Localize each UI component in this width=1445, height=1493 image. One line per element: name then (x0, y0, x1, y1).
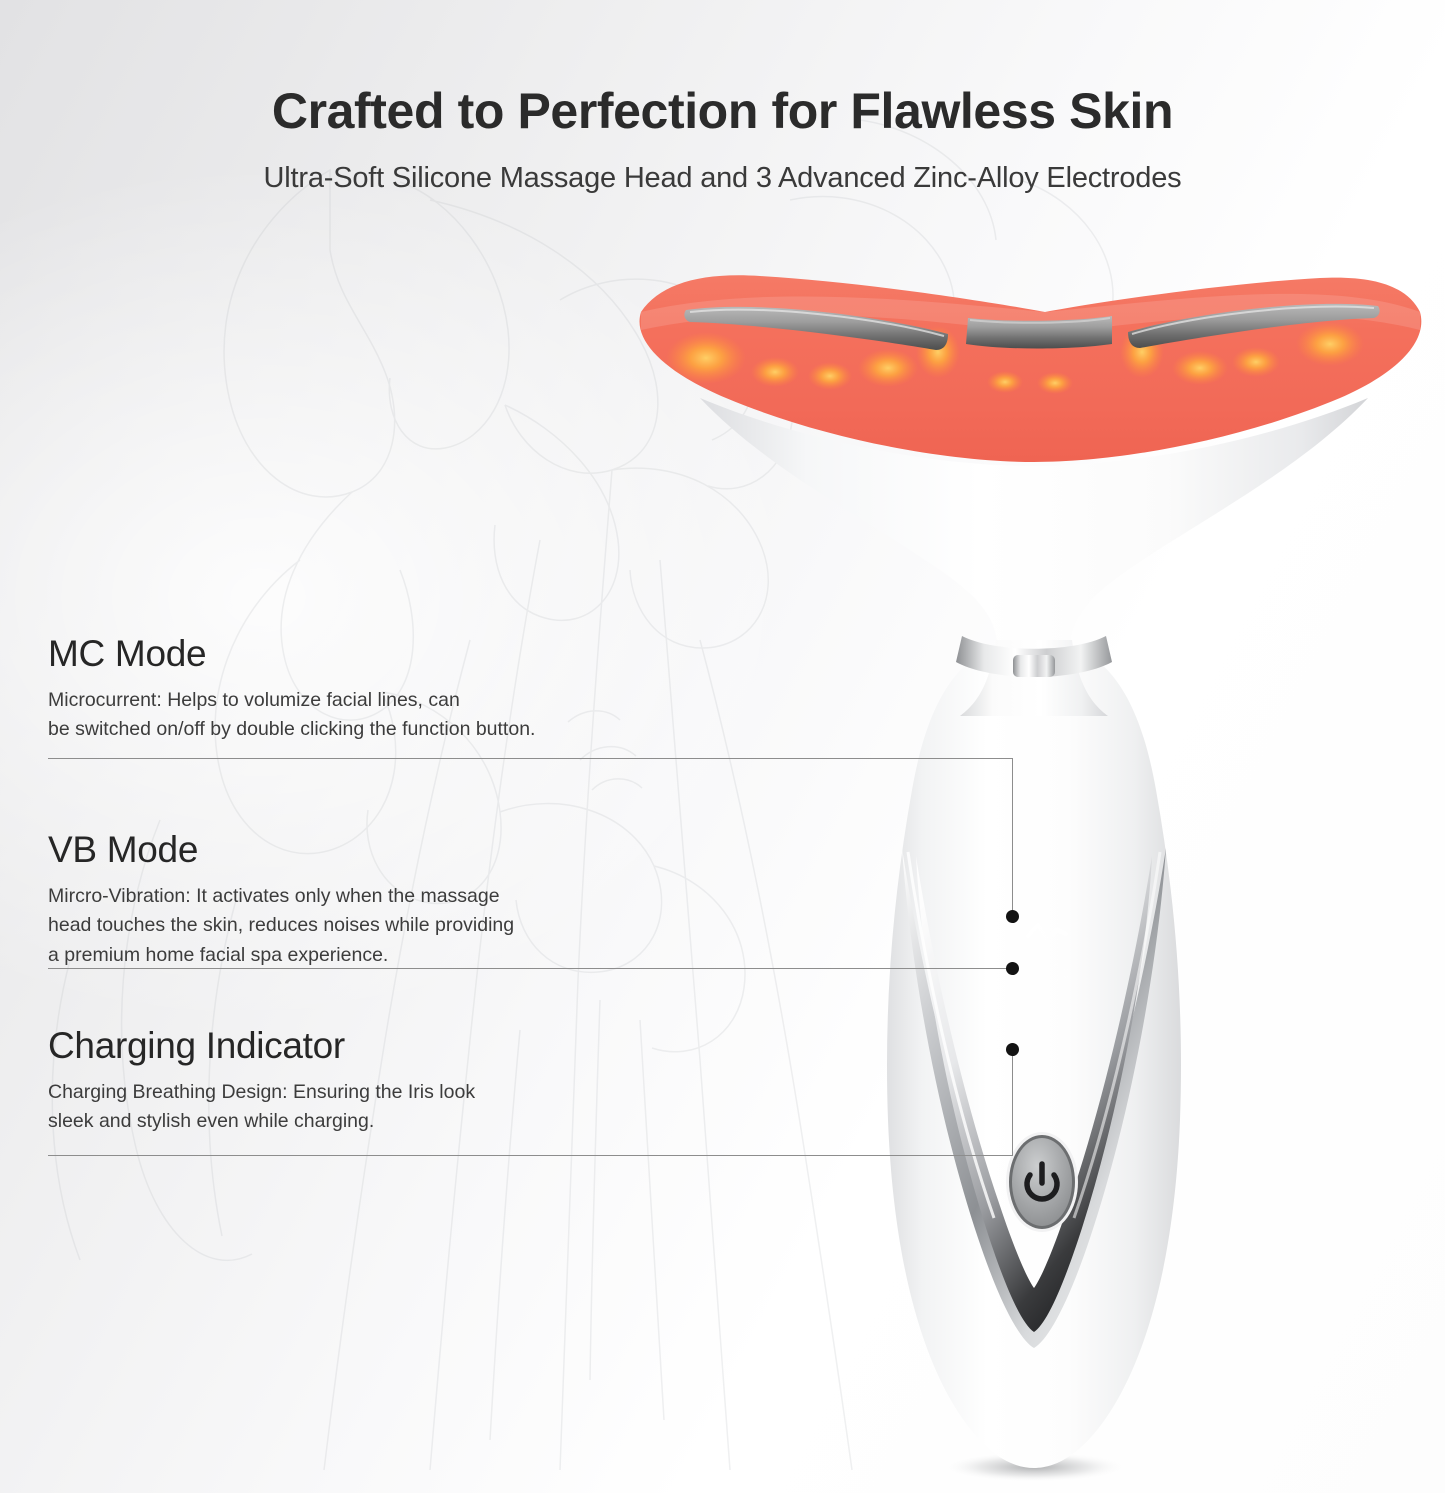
device-body (887, 640, 1181, 1468)
chrome-ring-tab (1013, 655, 1055, 677)
device-illustration (0, 0, 1445, 1493)
leader-line-mc-vertical (1012, 758, 1013, 916)
led-dot (1172, 351, 1228, 385)
electrode-strip-right (1128, 304, 1380, 348)
led-massage-head (640, 275, 1422, 462)
silicone-head (640, 275, 1422, 462)
leader-line-charging-horizontal (48, 1155, 1013, 1156)
led-dot (1037, 372, 1073, 394)
mc-indicator-icon (1028, 925, 1066, 939)
power-icon (1027, 1164, 1057, 1199)
page-title: Crafted to Perfection for Flawless Skin (0, 85, 1445, 138)
feature-title-mc-mode: MC Mode (48, 634, 535, 675)
led-dot (1120, 326, 1164, 378)
charging-indicator-icon (1028, 1003, 1050, 1038)
feature-description-charging-indicator: Charging Breathing Design: Ensuring the … (48, 1078, 475, 1137)
v-trim-inner (916, 856, 1152, 1332)
led-dot (916, 326, 960, 378)
led-dot (666, 332, 746, 384)
header: Crafted to Perfection for Flawless Skin … (0, 0, 1445, 195)
power-button-bezel (1006, 1132, 1078, 1232)
electrode-strip-center (966, 316, 1112, 349)
device-shadow (942, 1452, 1126, 1482)
led-dot (808, 362, 852, 390)
leader-dot-mc (1006, 910, 1019, 923)
iris-flower-watermark (0, 0, 1445, 1493)
electrode-strip-left (684, 307, 948, 350)
leader-dot-charging (1006, 1043, 1019, 1056)
device-neck-funnel (700, 398, 1368, 648)
page-subtitle: Ultra-Soft Silicone Massage Head and 3 A… (0, 162, 1445, 195)
feature-block-mc-mode: MC Mode Microcurrent: Helps to volumize … (48, 634, 535, 745)
feature-title-charging-indicator: Charging Indicator (48, 1026, 475, 1067)
chrome-ring (956, 636, 1112, 677)
led-dot (1232, 347, 1280, 377)
led-dot (987, 371, 1023, 393)
feature-description-mc-mode: Microcurrent: Helps to volumize facial l… (48, 686, 535, 745)
product-infographic: Crafted to Perfection for Flawless Skin … (0, 0, 1445, 1493)
device-neck-column (960, 640, 1108, 716)
led-dot (858, 349, 918, 387)
power-button-ring (1009, 1135, 1075, 1229)
leader-line-mc-horizontal (48, 758, 1013, 759)
feature-block-charging-indicator: Charging Indicator Charging Breathing De… (48, 1026, 475, 1137)
led-dot (1296, 322, 1364, 366)
leader-line-charging-vertical (1012, 1055, 1013, 1155)
feature-block-vb-mode: VB Mode Mircro-Vibration: It activates o… (48, 830, 514, 971)
feature-title-vb-mode: VB Mode (48, 830, 514, 871)
v-trim-outer (902, 848, 1166, 1348)
power-button (1012, 1138, 1072, 1226)
leader-dot-vb (1006, 962, 1019, 975)
feature-description-vb-mode: Mircro-Vibration: It activates only when… (48, 882, 514, 971)
vb-indicator-icon (1027, 960, 1066, 986)
led-dot (751, 357, 799, 387)
